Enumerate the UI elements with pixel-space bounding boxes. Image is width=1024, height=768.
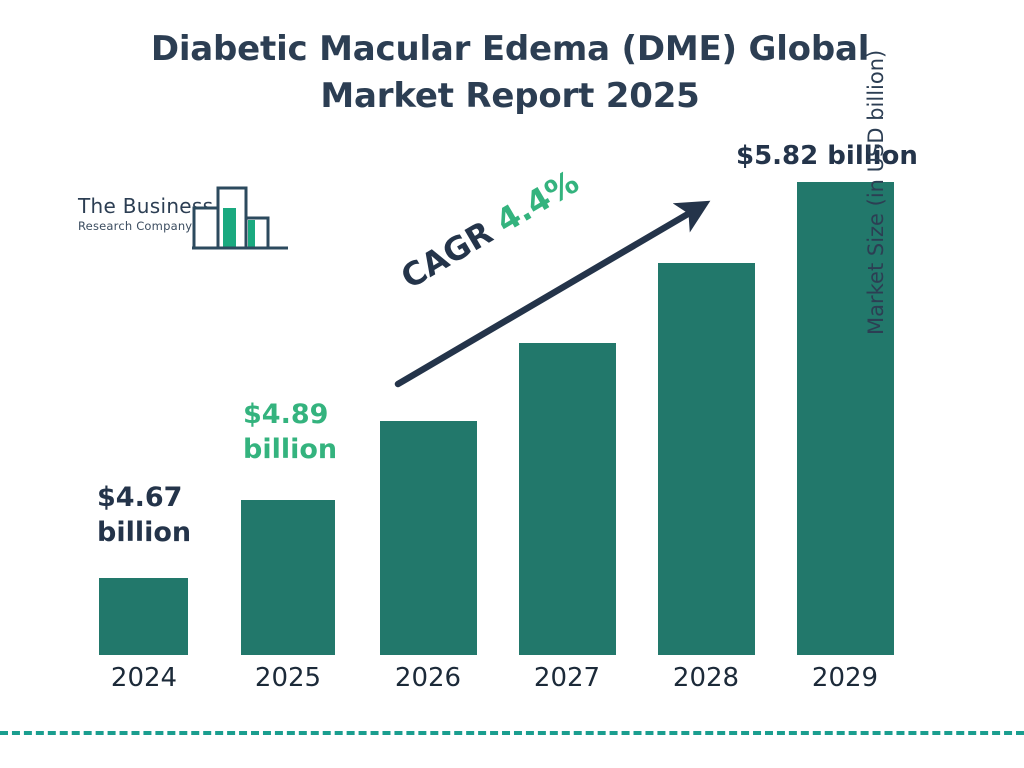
xtick-2028: 2028 [651,663,761,693]
xtick-2024: 2024 [89,663,199,693]
xtick-2025: 2025 [233,663,343,693]
y-axis-label: Market Size (in USD billion) [864,15,888,335]
xtick-2026: 2026 [373,663,483,693]
bar-2027 [519,343,616,655]
value-label-2029: $5.82 billion [736,140,918,173]
value-label-2024: $4.67 billion [97,481,191,550]
bar-2028 [658,263,755,655]
footer-divider [0,731,1024,735]
bar-2026 [380,421,477,655]
xtick-2027: 2027 [512,663,622,693]
value-label-2025: $4.89 billion [243,398,337,467]
value-label-2025-amount: $4.89 [243,398,337,433]
xtick-2029: 2029 [790,663,900,693]
value-label-2024-amount: $4.67 [97,481,191,516]
chart-canvas: Diabetic Macular Edema (DME) Global Mark… [0,0,1024,768]
bar-2024 [99,578,188,655]
value-label-2024-unit: billion [97,516,191,551]
value-label-2025-unit: billion [243,433,337,468]
bar-2025 [241,500,335,655]
